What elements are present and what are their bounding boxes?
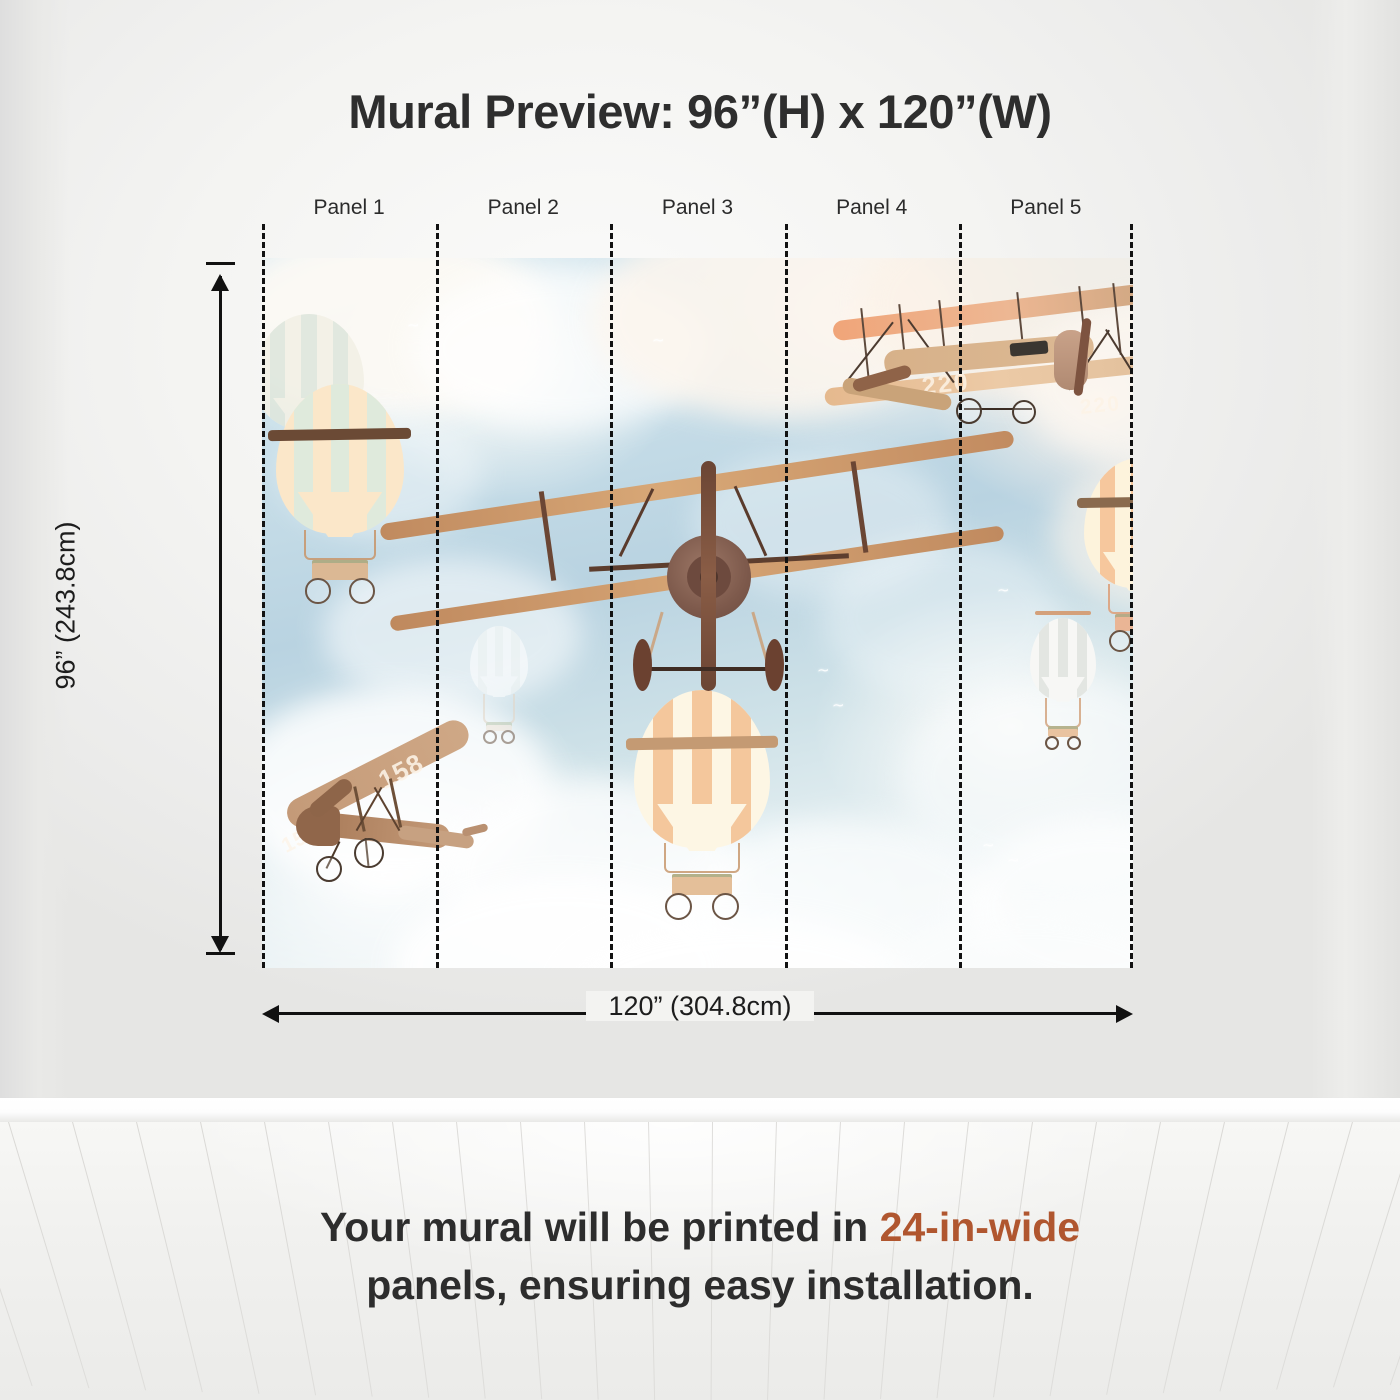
balloon-band: [1077, 496, 1133, 508]
wheel: [349, 578, 375, 604]
wheel-front: [354, 838, 384, 868]
wing-strut: [851, 461, 869, 553]
panel-divider: [959, 224, 962, 968]
wing-marking-220-lower: 220: [1079, 392, 1122, 420]
bird-icon: ∼: [407, 318, 420, 333]
airplane-biplane-220: 220220: [824, 280, 1133, 440]
wheel: [665, 893, 692, 920]
balloon-stripe: [1039, 618, 1048, 700]
wheel-right: [765, 639, 784, 691]
airplane-monoplane-158: 15815: [270, 734, 485, 894]
balloon-ropes: [304, 530, 376, 560]
mural-preview[interactable]: 22022015815 ∼∼∼∼∼∼∼ Panel 1Panel 2Panel …: [262, 258, 1133, 968]
bird-icon: ∼: [817, 663, 830, 678]
bird-icon: ∼: [652, 333, 665, 348]
wheel: [1067, 736, 1081, 750]
bird-icon: ∼: [1007, 853, 1020, 868]
height-arrow-down: [211, 936, 229, 953]
panel-label-4: Panel 4: [785, 196, 959, 220]
page-title: Mural Preview: 96”(H) x 120”(W): [0, 84, 1400, 139]
balloon-stripe: [1077, 618, 1086, 700]
bird-icon: ∼: [832, 698, 845, 713]
caption-line2: panels, ensuring easy installation.: [366, 1262, 1034, 1308]
width-label: 120” (304.8cm): [0, 991, 1400, 1022]
caption-accent: 24-in-wide: [880, 1204, 1080, 1250]
bracing-wire: [734, 486, 768, 557]
wheel: [1109, 630, 1131, 652]
upper-wing: [379, 430, 1014, 541]
panel-label-1: Panel 1: [262, 196, 436, 220]
wheel-right: [1012, 400, 1036, 424]
height-tick-top: [206, 262, 235, 265]
baseboard: [0, 1098, 1400, 1124]
panel-label-5: Panel 5: [959, 196, 1133, 220]
axle: [643, 667, 773, 671]
hot-air-balloon: [1030, 618, 1096, 770]
caption-line1-before: Your mural will be printed in: [320, 1204, 880, 1250]
airplane-large-biplane: [377, 443, 1017, 703]
panel-divider: [262, 224, 265, 968]
panel-label-3: Panel 3: [611, 196, 785, 220]
wheel: [501, 730, 515, 744]
panel-divider: [610, 224, 613, 968]
balloon-stripe: [653, 690, 672, 848]
panel-divider: [436, 224, 439, 968]
wheel: [1045, 736, 1059, 750]
panel-divider: [785, 224, 788, 968]
mural-artwork: 22022015815 ∼∼∼∼∼∼∼: [262, 258, 1133, 968]
balloon-basket: [672, 874, 732, 895]
balloon-stripe: [294, 384, 312, 534]
bird-icon: ∼: [997, 583, 1010, 598]
hot-air-balloon: [634, 690, 770, 918]
height-tick-bottom: [206, 952, 235, 955]
balloon-propeller: [1035, 611, 1090, 615]
wheel: [305, 578, 331, 604]
panel-label-2: Panel 2: [436, 196, 610, 220]
wheel-rear: [316, 856, 342, 882]
height-dimension-line: [219, 276, 222, 950]
wall-shadow-right: [1310, 0, 1400, 1120]
balloon-basket: [312, 560, 368, 580]
balloon-ropes: [664, 843, 740, 873]
height-label: 96” (243.8cm): [51, 426, 82, 786]
caption: Your mural will be printed in 24-in-wide…: [0, 1198, 1400, 1314]
balloon-stripe: [731, 690, 750, 848]
balloon-stripe: [1100, 458, 1116, 588]
balloon-ropes: [1045, 698, 1082, 728]
wheel: [712, 893, 739, 920]
width-label-text: 120” (304.8cm): [586, 991, 813, 1021]
propeller: [701, 461, 716, 691]
bird-icon: ∼: [982, 838, 995, 853]
panel-divider: [1130, 224, 1133, 968]
wheel-left: [633, 639, 652, 691]
tail-tip: [461, 823, 488, 837]
